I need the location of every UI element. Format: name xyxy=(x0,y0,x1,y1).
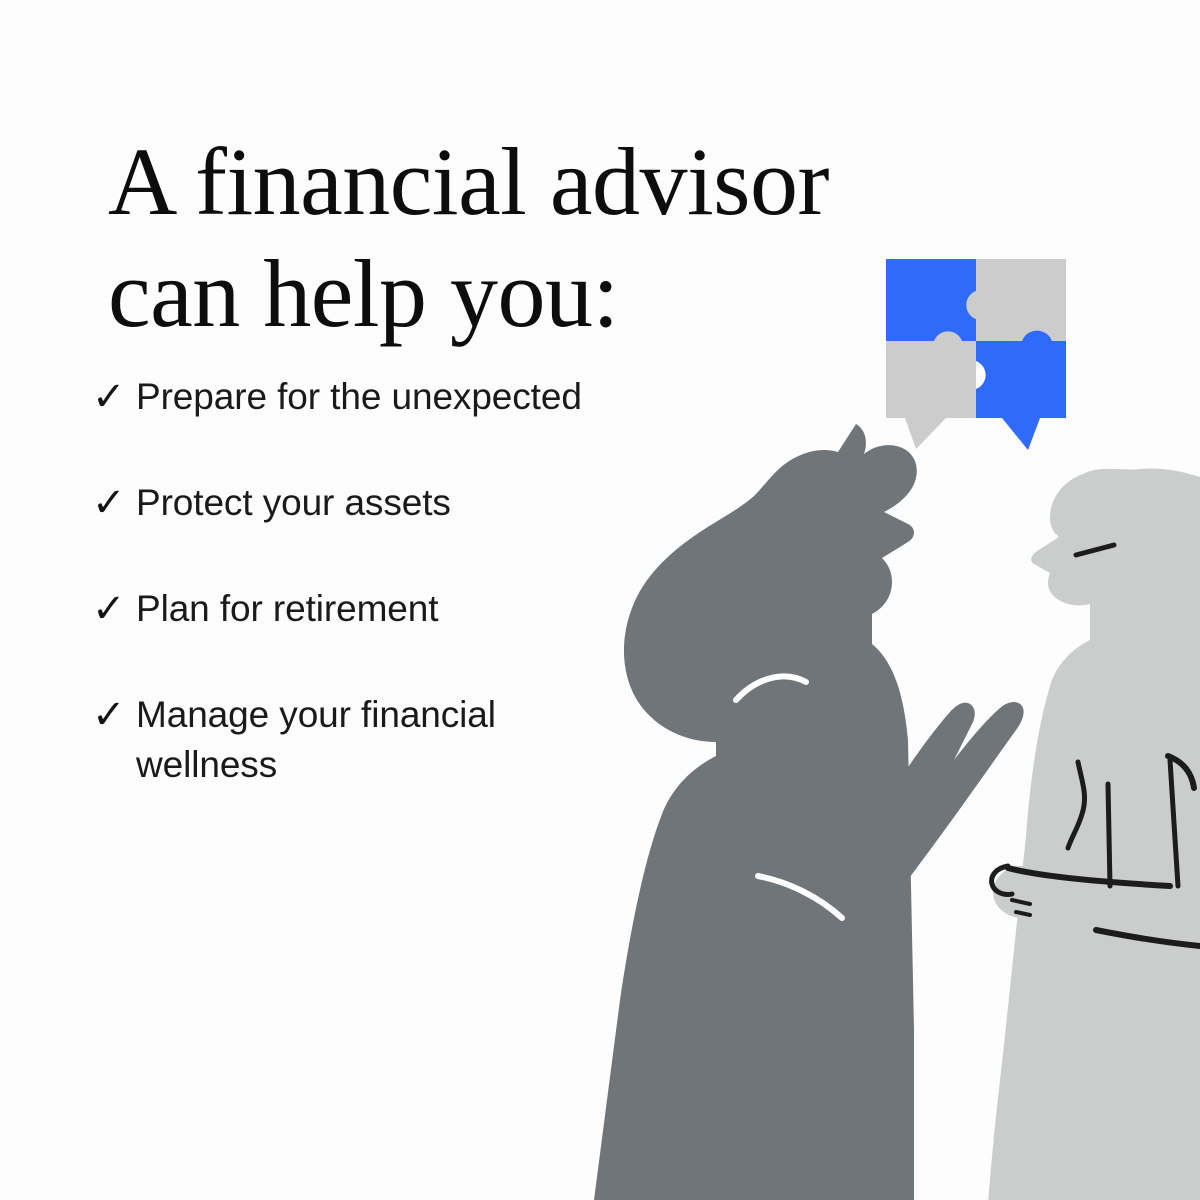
page-title: A financial advisor can help you: xyxy=(108,126,928,349)
list-item-label: Protect your assets xyxy=(136,478,672,528)
speech-tail-gray xyxy=(905,418,946,449)
list-item: ✓ Manage your financial wellness xyxy=(92,690,562,790)
client-mouth-line xyxy=(1076,545,1114,555)
puzzle-piece-bottom-right xyxy=(976,331,1066,450)
check-icon: ✓ xyxy=(92,690,136,738)
advisor-strap-line xyxy=(736,676,806,700)
client-forearm-line xyxy=(1008,868,1170,886)
client-silhouette xyxy=(988,468,1200,1200)
list-item-label: Prepare for the unexpected xyxy=(136,372,672,422)
puzzle-piece-top-right xyxy=(966,259,1066,341)
list-item-label: Plan for retirement xyxy=(136,584,672,634)
advisor-sleeve-line xyxy=(758,876,842,918)
list-item: ✓ Plan for retirement xyxy=(92,584,672,634)
poster-canvas: A financial advisor can help you: ✓ Prep… xyxy=(0,0,1200,1200)
check-icon: ✓ xyxy=(92,372,136,420)
list-item: ✓ Protect your assets xyxy=(92,478,672,528)
speech-tail-blue xyxy=(1002,418,1040,450)
check-icon: ✓ xyxy=(92,584,136,632)
list-item: ✓ Prepare for the unexpected xyxy=(92,372,672,422)
client-hand-line xyxy=(992,866,1012,895)
check-icon: ✓ xyxy=(92,478,136,526)
client-chest-line xyxy=(1068,762,1085,848)
list-item-label: Manage your financial wellness xyxy=(136,690,562,790)
benefits-list: ✓ Prepare for the unexpected ✓ Protect y… xyxy=(92,372,672,846)
